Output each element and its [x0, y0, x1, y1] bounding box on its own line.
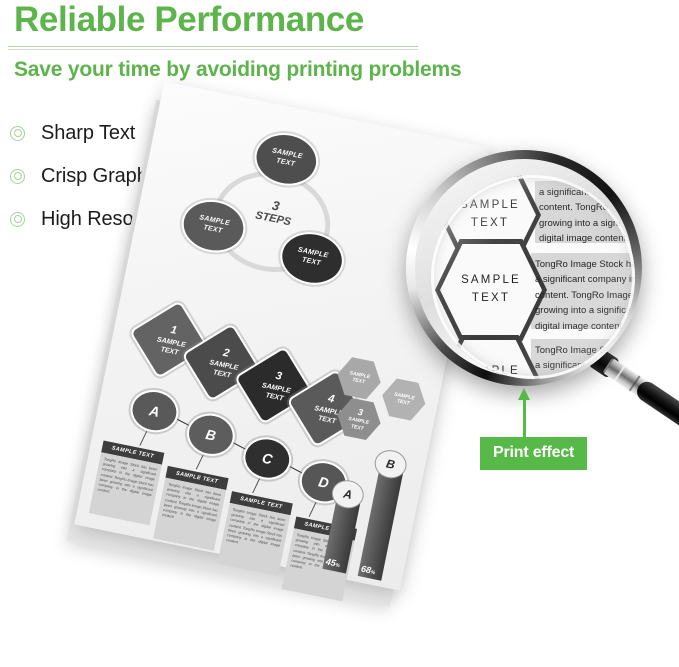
cycle-diagram: 3 STEPS SAMPLE TEXT SAMPLE TEXT SAMPLE T… [164, 115, 385, 324]
text-box: SAMPLE TEXT TongRo Image Stock has been … [217, 491, 293, 576]
magnifier-ring-inner: SAMPLE TEXT a significant content. TongR… [415, 159, 633, 377]
hex-line1: SAMPLE [460, 363, 520, 379]
hex-line2: TEXT [471, 215, 509, 233]
hex-line1: SAMPLE [461, 272, 521, 290]
poster-root: Reliable Performance Save your time by a… [0, 0, 679, 667]
page-subtitle: Save your time by avoiding printing prob… [14, 58, 461, 82]
magnifier-grip [633, 378, 679, 448]
double-circle-bullet-icon [8, 167, 28, 187]
magnifying-glass: SAMPLE TEXT a significant content. TongR… [398, 150, 679, 450]
bar-b-value: 68% [360, 564, 376, 577]
flow-node: A [127, 386, 182, 437]
title-divider [8, 46, 418, 50]
arrow-shaft [523, 398, 526, 438]
hexagon-node: 3 SAMPLE TEXT [333, 395, 384, 443]
text-box: SAMPLE TEXT TongRo Image Stock has been … [153, 466, 229, 551]
bar-b: B 68% [358, 466, 404, 581]
hexagon-node: SAMPLE TEXT [334, 354, 385, 402]
print-effect-badge: Print effect [480, 437, 587, 470]
magnified-paragraph-top: a significant content. TongRo growing in… [539, 185, 629, 247]
double-circle-bullet-icon [8, 210, 28, 230]
hex-number: 3 [357, 407, 364, 419]
text-box-body: TongRo Image Stock has been growing into… [89, 452, 162, 525]
step-number: 2 [222, 347, 231, 361]
double-circle-bullet-icon [8, 124, 28, 144]
step-number: 3 [274, 370, 283, 384]
magnified-content: SAMPLE TEXT a significant content. TongR… [431, 175, 635, 379]
bar-a-value: 45% [325, 556, 341, 569]
text-box: SAMPLE TEXT TongRo Image Stock has been … [89, 441, 165, 526]
text-box-body: TongRo Image Stock has been growing into… [217, 503, 290, 576]
hex-line2: TEXT [350, 423, 364, 432]
magnifier-ring: SAMPLE TEXT a significant content. TongR… [406, 150, 642, 386]
feature-label: Sharp Text [41, 122, 135, 145]
magnified-hexagon-bot: SAMPLE TEXT [439, 335, 541, 379]
hex-line2: TEXT [472, 290, 510, 308]
bar-a-label: A [329, 477, 366, 511]
page-title: Reliable Performance [14, 2, 364, 39]
text-box-body: TongRo Image Stock has been growing into… [153, 478, 226, 551]
magnified-paragraph-mid: TongRo Image Stock has been a significan… [535, 257, 635, 334]
magnifier-lens: SAMPLE TEXT a significant content. TongR… [431, 175, 635, 379]
hex-line2: TEXT [352, 377, 366, 386]
hex-line1: SAMPLE [460, 197, 520, 215]
magnified-paragraph-bot: TongRo Image Stock a significant com con… [535, 343, 623, 379]
step-number: 1 [169, 324, 178, 338]
